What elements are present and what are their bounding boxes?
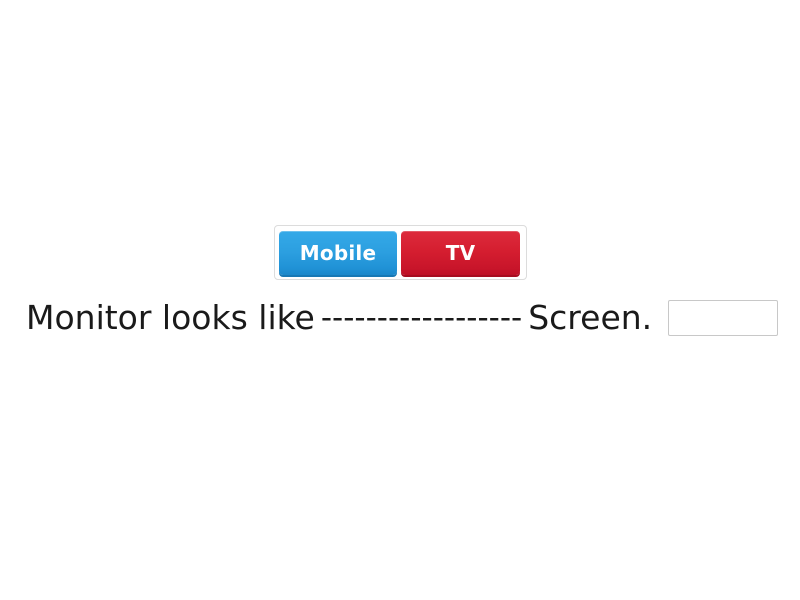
question-prefix: Monitor looks like — [26, 298, 315, 338]
question-blank-dashes: ------------------ — [315, 298, 528, 338]
choice-button-tv[interactable]: TV — [401, 231, 520, 275]
choice-button-mobile[interactable]: Mobile — [279, 231, 397, 275]
answer-choices-container: Mobile TV — [274, 225, 527, 280]
question-line: Monitor looks like ------------------ Sc… — [26, 296, 778, 340]
answer-input[interactable] — [668, 300, 778, 336]
question-suffix: Screen. — [528, 298, 652, 338]
